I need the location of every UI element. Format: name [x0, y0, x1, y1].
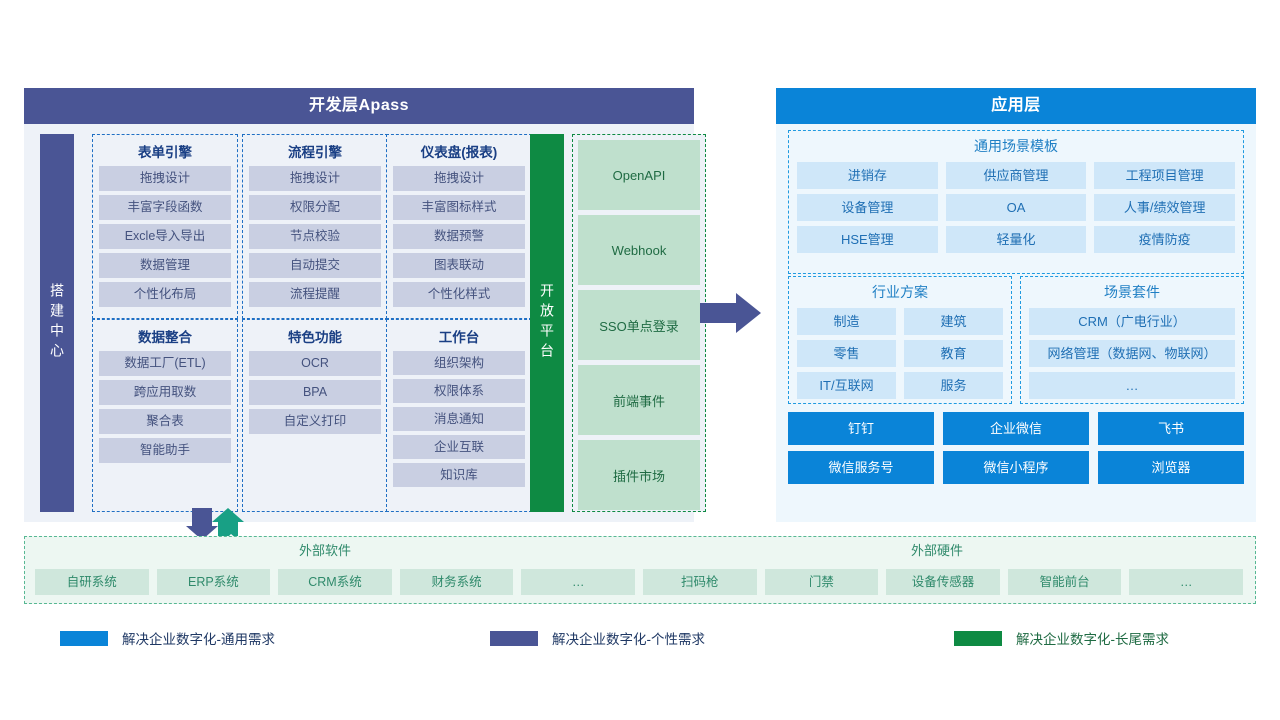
development-layer-panel: 开发层Apass 搭建中心 表单引擎 拖拽设计 丰富字段函数 Excle导入导出…: [24, 88, 694, 522]
chip-item[interactable]: 丰富图标样式: [393, 195, 525, 220]
open-platform-item[interactable]: 插件市场: [578, 440, 700, 510]
industry-item[interactable]: 教育: [904, 340, 1003, 367]
group-special-features[interactable]: 特色功能 OCR BPA 自定义打印: [242, 319, 388, 512]
external-software-title: 外部软件: [25, 540, 625, 559]
external-hardware-item[interactable]: 设备传感器: [886, 569, 1000, 595]
external-headings: 外部软件 外部硬件: [25, 537, 1255, 561]
development-layer-title: 开发层Apass: [24, 88, 694, 124]
group-title: 特色功能: [249, 322, 381, 351]
scene-kit-item[interactable]: 网络管理（数据网、物联网）: [1029, 340, 1235, 367]
legend-swatch-longtail: [954, 631, 1002, 646]
chip-item[interactable]: 节点校验: [249, 224, 381, 249]
open-platform-item[interactable]: Webhook: [578, 215, 700, 285]
open-platform-item[interactable]: OpenAPI: [578, 140, 700, 210]
group-title: 数据整合: [99, 322, 231, 351]
external-software-item[interactable]: CRM系统: [278, 569, 392, 595]
external-hardware-item[interactable]: …: [1129, 569, 1243, 595]
legend-label-longtail: 解决企业数字化-长尾需求: [1016, 628, 1169, 648]
template-item[interactable]: 轻量化: [946, 226, 1087, 253]
template-item[interactable]: OA: [946, 194, 1087, 221]
industry-item[interactable]: 服务: [904, 372, 1003, 399]
chip-item[interactable]: 流程提醒: [249, 282, 381, 307]
chip-item[interactable]: 自动提交: [249, 253, 381, 278]
group-dashboard[interactable]: 仪表盘(报表) 拖拽设计 丰富图标样式 数据预警 图表联动 个性化样式: [386, 134, 532, 319]
development-layer-body: 搭建中心 表单引擎 拖拽设计 丰富字段函数 Excle导入导出 数据管理 个性化…: [24, 124, 694, 522]
legend-item-general: 解决企业数字化-通用需求: [60, 626, 275, 650]
engine-column-1: 表单引擎 拖拽设计 丰富字段函数 Excle导入导出 数据管理 个性化布局 数据…: [92, 134, 238, 512]
legend-label-personal: 解决企业数字化-个性需求: [552, 628, 705, 648]
group-workbench[interactable]: 工作台 组织架构 权限体系 消息通知 企业互联 知识库: [386, 319, 532, 512]
template-item[interactable]: 工程项目管理: [1094, 162, 1235, 189]
engine-column-3: 仪表盘(报表) 拖拽设计 丰富图标样式 数据预警 图表联动 个性化样式 工作台 …: [386, 134, 532, 512]
channel-item[interactable]: 企业微信: [943, 412, 1089, 445]
chip-item[interactable]: 聚合表: [99, 409, 231, 434]
industry-solutions-grid: 制造 建筑 零售 教育 IT/互联网 服务: [797, 308, 1003, 399]
external-hardware-item[interactable]: 扫码枪: [643, 569, 757, 595]
scene-kits-title: 场景套件: [1029, 277, 1235, 308]
flow-arrow-right-icon: [700, 292, 762, 334]
build-center-sidebar: 搭建中心: [40, 134, 74, 512]
engine-column-2: 流程引擎 拖拽设计 权限分配 节点校验 自动提交 流程提醒 特色功能 OCR B…: [242, 134, 388, 512]
group-title: 流程引擎: [249, 137, 381, 166]
open-platform-sidebar: 开放平台: [530, 134, 564, 512]
open-platform-group: OpenAPI Webhook SSO单点登录 前端事件 插件市场: [572, 134, 706, 512]
chip-item[interactable]: 数据管理: [99, 253, 231, 278]
channel-item[interactable]: 微信服务号: [788, 451, 934, 484]
chip-item[interactable]: 企业互联: [393, 435, 525, 459]
general-scene-templates-box: 通用场景模板 进销存 供应商管理 工程项目管理 设备管理 OA 人事/绩效管理 …: [788, 130, 1244, 274]
external-software-item[interactable]: 自研系统: [35, 569, 149, 595]
template-item[interactable]: HSE管理: [797, 226, 938, 253]
chip-item[interactable]: 组织架构: [393, 351, 525, 375]
group-title: 工作台: [393, 322, 525, 351]
chip-item[interactable]: 拖拽设计: [249, 166, 381, 191]
chip-item[interactable]: 丰富字段函数: [99, 195, 231, 220]
template-item[interactable]: 供应商管理: [946, 162, 1087, 189]
external-software-item[interactable]: …: [521, 569, 635, 595]
industry-item[interactable]: 制造: [797, 308, 896, 335]
chip-item[interactable]: BPA: [249, 380, 381, 405]
channel-item[interactable]: 微信小程序: [943, 451, 1089, 484]
legend-item-personal: 解决企业数字化-个性需求: [490, 626, 705, 650]
template-item[interactable]: 疫情防疫: [1094, 226, 1235, 253]
template-item[interactable]: 设备管理: [797, 194, 938, 221]
group-data-integration[interactable]: 数据整合 数据工厂(ETL) 跨应用取数 聚合表 智能助手: [92, 319, 238, 512]
legend-item-longtail: 解决企业数字化-长尾需求: [954, 626, 1169, 650]
chip-item[interactable]: 个性化样式: [393, 282, 525, 307]
open-platform-item[interactable]: SSO单点登录: [578, 290, 700, 360]
diagram-canvas: 开发层Apass 搭建中心 表单引擎 拖拽设计 丰富字段函数 Excle导入导出…: [0, 0, 1280, 720]
chip-item[interactable]: 智能助手: [99, 438, 231, 463]
group-form-engine[interactable]: 表单引擎 拖拽设计 丰富字段函数 Excle导入导出 数据管理 个性化布局: [92, 134, 238, 319]
external-systems-panel: 外部软件 外部硬件 自研系统 ERP系统 CRM系统 财务系统 … 扫码枪 门禁…: [24, 536, 1256, 604]
channel-item[interactable]: 飞书: [1098, 412, 1244, 445]
channel-item[interactable]: 浏览器: [1098, 451, 1244, 484]
application-layer-title: 应用层: [776, 88, 1256, 124]
external-software-item[interactable]: 财务系统: [400, 569, 514, 595]
chip-item[interactable]: 个性化布局: [99, 282, 231, 307]
channels-grid: 钉钉 企业微信 飞书 微信服务号 微信小程序 浏览器: [788, 412, 1244, 484]
chip-item[interactable]: 自定义打印: [249, 409, 381, 434]
legend-swatch-general: [60, 631, 108, 646]
chip-item[interactable]: Excle导入导出: [99, 224, 231, 249]
group-process-engine[interactable]: 流程引擎 拖拽设计 权限分配 节点校验 自动提交 流程提醒: [242, 134, 388, 319]
application-layer-panel: 应用层 通用场景模板 进销存 供应商管理 工程项目管理 设备管理 OA 人事/绩…: [776, 88, 1256, 522]
chip-item[interactable]: 权限体系: [393, 379, 525, 403]
chip-item[interactable]: 知识库: [393, 463, 525, 487]
template-item[interactable]: 人事/绩效管理: [1094, 194, 1235, 221]
chip-item[interactable]: 跨应用取数: [99, 380, 231, 405]
chip-item[interactable]: 图表联动: [393, 253, 525, 278]
chip-item[interactable]: 数据预警: [393, 224, 525, 249]
group-title: 仪表盘(报表): [393, 137, 525, 166]
industry-item[interactable]: IT/互联网: [797, 372, 896, 399]
chip-item[interactable]: 消息通知: [393, 407, 525, 431]
group-title: 表单引擎: [99, 137, 231, 166]
scene-kit-item[interactable]: CRM（广电行业）: [1029, 308, 1235, 335]
open-platform-item[interactable]: 前端事件: [578, 365, 700, 435]
general-scene-templates-title: 通用场景模板: [797, 131, 1235, 162]
chip-item[interactable]: 权限分配: [249, 195, 381, 220]
external-hardware-item[interactable]: 智能前台: [1008, 569, 1122, 595]
scene-kits-box: 场景套件 CRM（广电行业） 网络管理（数据网、物联网） …: [1020, 276, 1244, 404]
legend-label-general: 解决企业数字化-通用需求: [122, 628, 275, 648]
industry-item[interactable]: 建筑: [904, 308, 1003, 335]
chip-item[interactable]: 拖拽设计: [99, 166, 231, 191]
chip-item[interactable]: OCR: [249, 351, 381, 376]
channel-item[interactable]: 钉钉: [788, 412, 934, 445]
legend: 解决企业数字化-通用需求 解决企业数字化-个性需求 解决企业数字化-长尾需求: [24, 626, 1256, 652]
external-software-item[interactable]: ERP系统: [157, 569, 271, 595]
industry-item[interactable]: 零售: [797, 340, 896, 367]
scene-kits-grid: CRM（广电行业） 网络管理（数据网、物联网） …: [1029, 308, 1235, 399]
external-items-grid: 自研系统 ERP系统 CRM系统 财务系统 … 扫码枪 门禁 设备传感器 智能前…: [35, 569, 1243, 595]
external-hardware-item[interactable]: 门禁: [765, 569, 879, 595]
general-scene-templates-grid: 进销存 供应商管理 工程项目管理 设备管理 OA 人事/绩效管理 HSE管理 轻…: [797, 162, 1235, 253]
chip-item[interactable]: 数据工厂(ETL): [99, 351, 231, 376]
legend-swatch-personal: [490, 631, 538, 646]
industry-solutions-box: 行业方案 制造 建筑 零售 教育 IT/互联网 服务: [788, 276, 1012, 404]
chip-item[interactable]: 拖拽设计: [393, 166, 525, 191]
template-item[interactable]: 进销存: [797, 162, 938, 189]
application-layer-body: 通用场景模板 进销存 供应商管理 工程项目管理 设备管理 OA 人事/绩效管理 …: [776, 124, 1256, 522]
industry-solutions-title: 行业方案: [797, 277, 1003, 308]
external-hardware-title: 外部硬件: [637, 540, 1237, 559]
scene-kit-item[interactable]: …: [1029, 372, 1235, 399]
